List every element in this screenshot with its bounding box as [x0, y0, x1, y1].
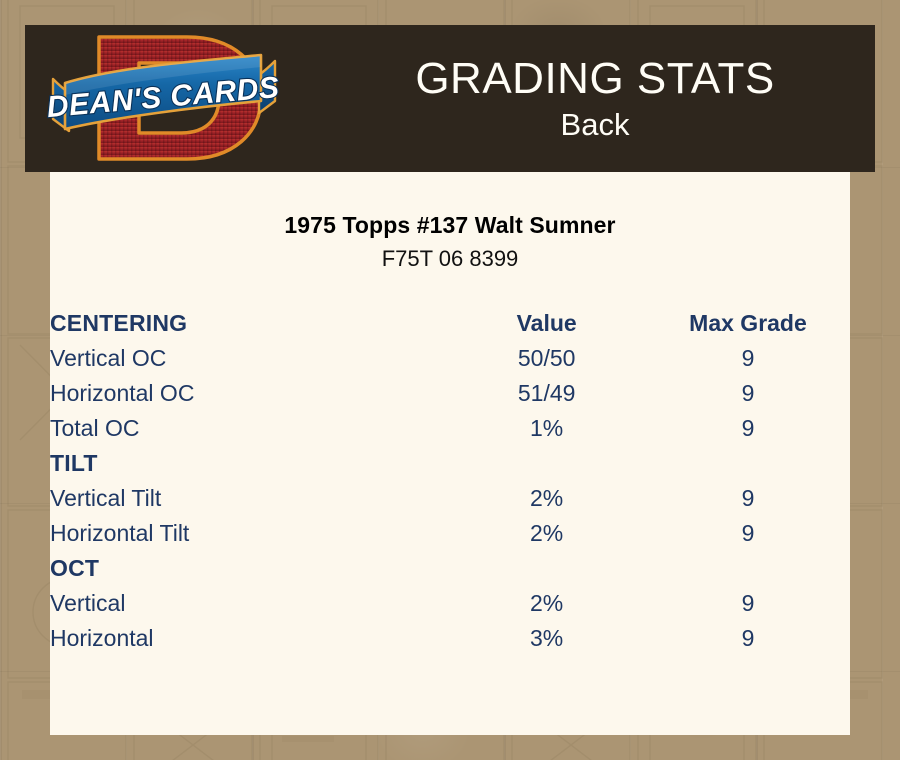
stat-value: 2% — [447, 512, 646, 547]
column-header-max-grade: Max Grade — [646, 298, 850, 337]
card-serial-number: F75T 06 8399 — [50, 246, 850, 272]
header-title-block: GRADING STATS Back — [315, 25, 875, 172]
section-title: OCT — [50, 547, 447, 582]
header-bar: DEAN'S CARDS GRADING STATS Back — [25, 25, 875, 172]
stat-max-grade: 9 — [646, 407, 850, 442]
column-header-value: Value — [447, 298, 646, 337]
column-header-max-grade — [646, 442, 850, 477]
table-row: Vertical OC50/509 — [50, 337, 850, 372]
stat-value: 2% — [447, 582, 646, 617]
table-row: Vertical Tilt2%9 — [50, 477, 850, 512]
table-row: Total OC1%9 — [50, 407, 850, 442]
table-row: Horizontal3%9 — [50, 617, 850, 652]
stat-max-grade: 9 — [646, 512, 850, 547]
stat-value: 51/49 — [447, 372, 646, 407]
stat-value: 1% — [447, 407, 646, 442]
page-title: GRADING STATS — [415, 54, 774, 104]
section-header-row: TILT — [50, 442, 850, 477]
stat-label: Horizontal — [50, 617, 447, 652]
table-row: Horizontal Tilt2%9 — [50, 512, 850, 547]
content-panel: 1975 Topps #137 Walt Sumner F75T 06 8399… — [50, 172, 850, 735]
stat-max-grade: 9 — [646, 372, 850, 407]
card-title: 1975 Topps #137 Walt Sumner — [50, 211, 850, 239]
stat-value: 3% — [447, 617, 646, 652]
section-header-row: OCT — [50, 547, 850, 582]
stat-max-grade: 9 — [646, 582, 850, 617]
section-header-row: CENTERINGValueMax Grade — [50, 298, 850, 337]
stat-value: 2% — [447, 477, 646, 512]
column-header-value — [447, 547, 646, 582]
stat-label: Horizontal Tilt — [50, 512, 447, 547]
table-row: Horizontal OC51/499 — [50, 372, 850, 407]
stat-label: Horizontal OC — [50, 372, 447, 407]
stat-value: 50/50 — [447, 337, 646, 372]
stat-max-grade: 9 — [646, 337, 850, 372]
stat-label: Vertical — [50, 582, 447, 617]
stat-max-grade: 9 — [646, 477, 850, 512]
column-header-max-grade — [646, 547, 850, 582]
table-row: Vertical2%9 — [50, 582, 850, 617]
page-subtitle: Back — [561, 106, 630, 144]
stat-max-grade: 9 — [646, 617, 850, 652]
stat-label: Total OC — [50, 407, 447, 442]
section-title: TILT — [50, 442, 447, 477]
stat-label: Vertical Tilt — [50, 477, 447, 512]
deans-cards-logo[interactable]: DEAN'S CARDS — [47, 27, 297, 169]
grading-stats-table: CENTERINGValueMax GradeVertical OC50/509… — [50, 298, 850, 652]
section-title: CENTERING — [50, 298, 447, 337]
column-header-value — [447, 442, 646, 477]
stat-label: Vertical OC — [50, 337, 447, 372]
